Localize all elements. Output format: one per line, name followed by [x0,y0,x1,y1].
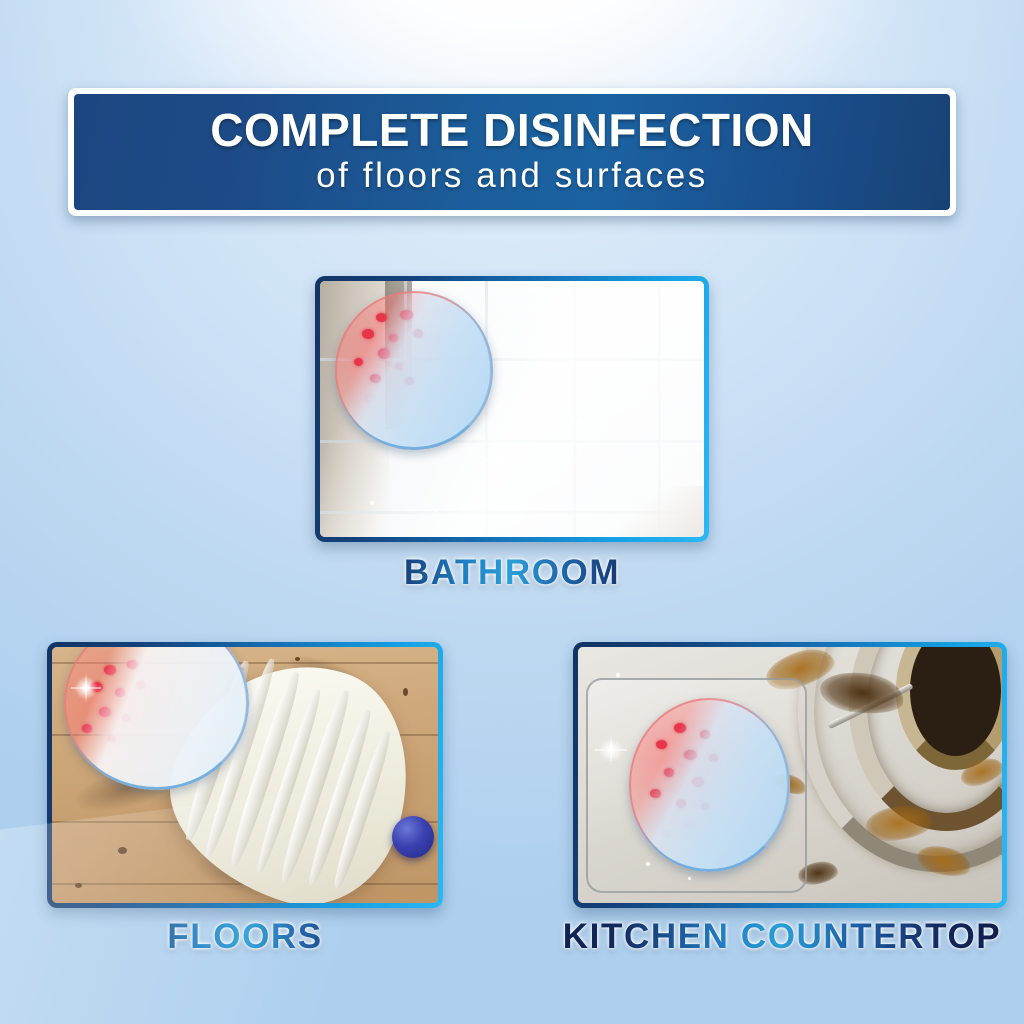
photo-frame-kitchen [573,642,1007,908]
sparkle-dot [577,453,581,457]
dish-rim-highlight [335,291,492,450]
photo-frame-bathroom [315,276,709,542]
sparkle-dot [616,673,620,677]
photo-bathroom [320,281,704,537]
headline-subtitle: of floors and surfaces [316,155,708,197]
card-label-floors: FLOORS [47,917,443,957]
sparkle-icon [71,673,101,703]
dish-rim-highlight [629,698,790,872]
card-kitchen-countertop[interactable] [573,642,1007,908]
magnifier-dish [629,698,790,872]
card-floors[interactable] [47,642,443,908]
headline-banner-inner: COMPLETE DISINFECTION of floors and surf… [74,94,950,210]
poster-canvas: COMPLETE DISINFECTION of floors and surf… [0,0,1024,1024]
sparkle-icon [595,734,627,766]
photo-kitchen-countertop [578,647,1002,903]
sparkle-dot [646,862,650,866]
sparkle-dot [543,473,546,476]
card-label-kitchen-countertop: KITCHEN COUNTERTOP [540,917,1024,957]
headline-title: COMPLETE DISINFECTION [210,107,813,154]
sparkle-icon [573,414,589,430]
wood-knot [118,847,127,854]
magnifier-dish [335,291,492,450]
headline-banner: COMPLETE DISINFECTION of floors and surf… [68,88,956,216]
card-bathroom[interactable] [315,276,709,542]
mop-handle-joint [392,816,434,858]
wood-knot [75,883,82,888]
photo-frame-floors [47,642,443,908]
magnifier-dish [64,647,249,790]
photo-floors [52,647,438,903]
card-label-bathroom: BATHROOM [315,553,709,593]
sparkle-icon [485,442,519,476]
sparkle-icon [627,373,653,399]
